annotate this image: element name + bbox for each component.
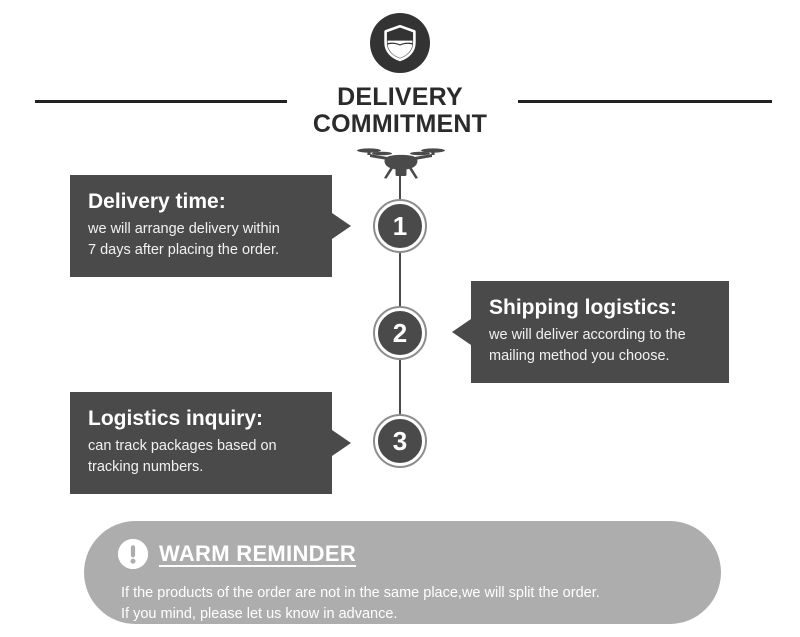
shield-badge <box>370 13 430 73</box>
step-card-1-body-line-1: we will arrange delivery within <box>88 219 314 240</box>
step-card-2-title: Shipping logistics: <box>489 295 711 321</box>
warm-reminder-title: WARM REMINDER <box>159 541 356 567</box>
step-card-2-body-line-2: mailing method you choose. <box>489 346 711 367</box>
step-card-2-body-line-1: we will deliver according to the <box>489 325 711 346</box>
page-title: DELIVERY COMMITMENT <box>0 84 800 138</box>
page-title-line-1: DELIVERY <box>0 84 800 111</box>
step-card-3-body-line-1: can track packages based on <box>88 436 314 457</box>
step-card-1-body-line-2: 7 days after placing the order. <box>88 240 314 261</box>
step-marker-1: 1 <box>375 201 425 251</box>
warm-reminder-banner: WARM REMINDER If the products of the ord… <box>84 521 721 624</box>
callout-pointer-right <box>332 213 351 239</box>
callout-pointer-right <box>332 430 351 456</box>
step-marker-2: 2 <box>375 308 425 358</box>
step-number-1: 1 <box>393 213 407 239</box>
step-card-3-title: Logistics inquiry: <box>88 406 314 432</box>
warm-reminder-body-line-2: If you mind, please let us know in advan… <box>121 604 687 625</box>
step-number-2: 2 <box>393 320 407 346</box>
callout-pointer-left <box>452 319 471 345</box>
step-card-1-body: we will arrange delivery within 7 days a… <box>88 219 314 261</box>
step-card-3: Logistics inquiry: can track packages ba… <box>70 392 332 494</box>
page-title-line-2: COMMITMENT <box>0 111 800 138</box>
exclamation-circle-icon <box>118 539 148 569</box>
warm-reminder-body: If the products of the order are not in … <box>121 583 687 625</box>
delivery-commitment-infographic: DELIVERY COMMITMENT 1 <box>0 0 800 637</box>
step-card-3-body-line-2: tracking numbers. <box>88 457 314 478</box>
step-card-2-body: we will deliver according to the mailing… <box>489 325 711 367</box>
step-card-3-body: can track packages based on tracking num… <box>88 436 314 478</box>
step-card-2: Shipping logistics: we will deliver acco… <box>471 281 729 383</box>
step-card-1-title: Delivery time: <box>88 189 314 215</box>
shield-icon <box>383 24 417 62</box>
warm-reminder-header: WARM REMINDER <box>118 537 687 571</box>
warm-reminder-body-line-1: If the products of the order are not in … <box>121 583 687 604</box>
step-card-1: Delivery time: we will arrange delivery … <box>70 175 332 277</box>
step-marker-3: 3 <box>375 416 425 466</box>
drone-icon <box>356 144 446 182</box>
step-number-3: 3 <box>393 428 407 454</box>
